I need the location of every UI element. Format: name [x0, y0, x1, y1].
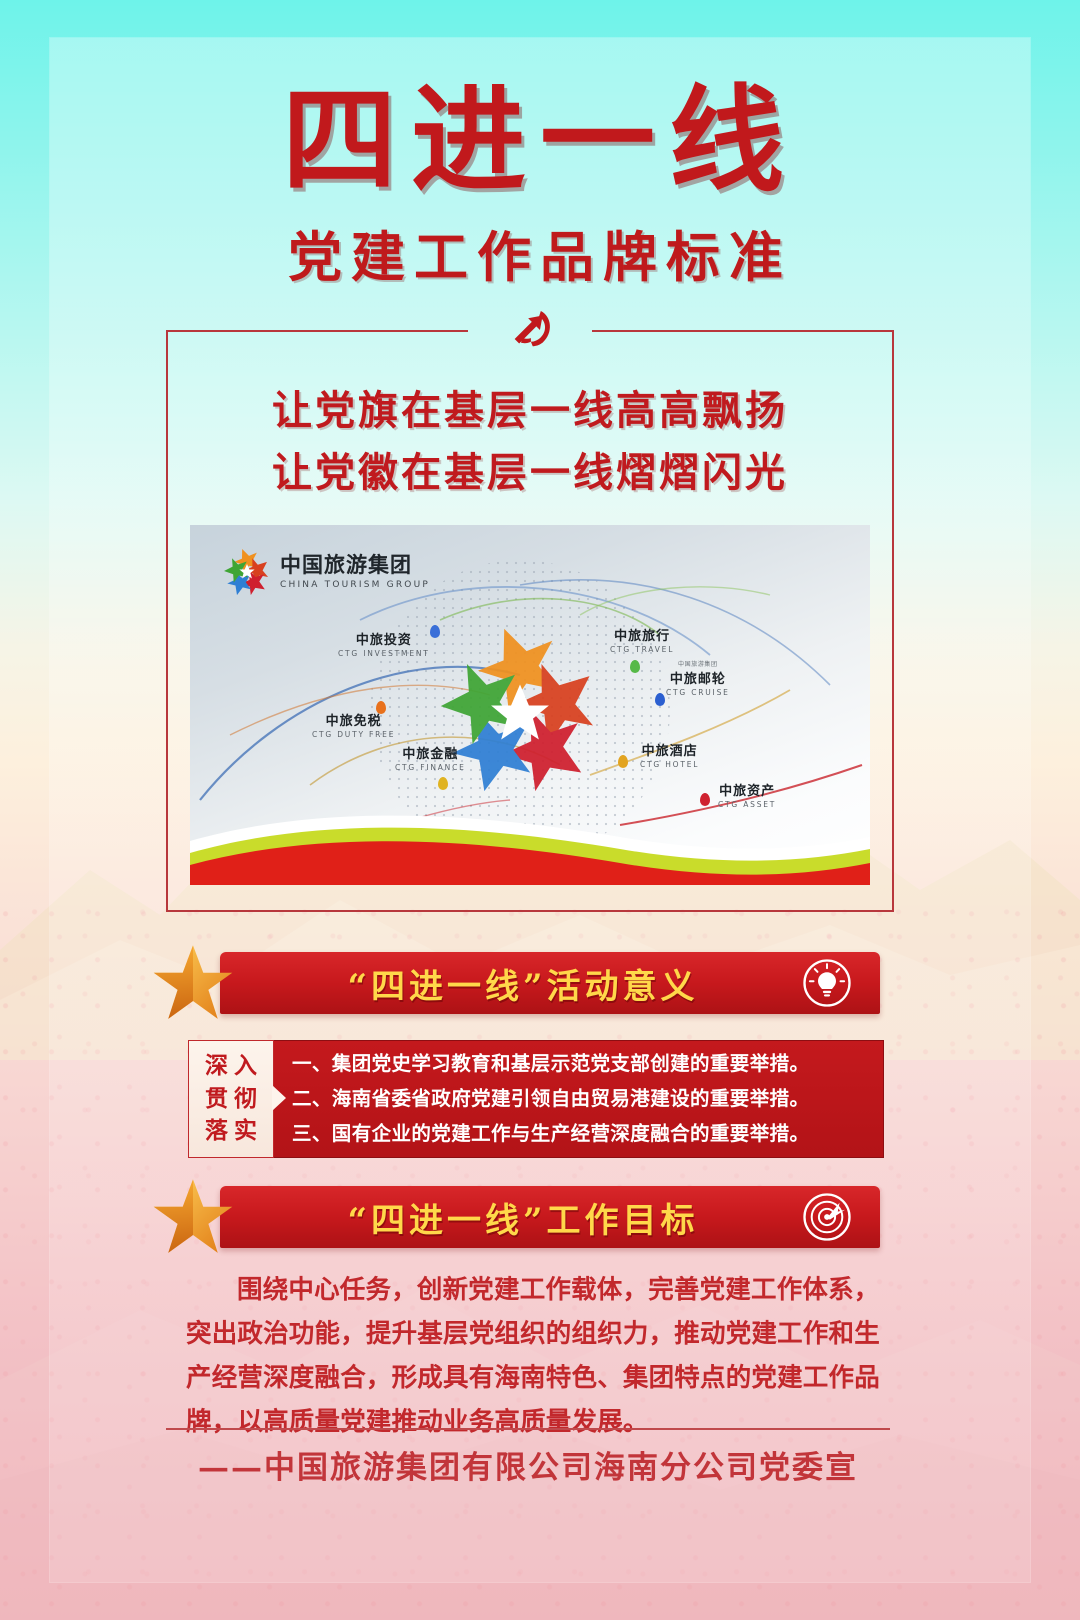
page-title: 四进一线	[0, 0, 1080, 199]
poster-header: 四进一线 党建工作品牌标准	[0, 0, 1080, 292]
pin-ctg-cruise	[655, 693, 665, 706]
section-activity-meaning: “四进一线”活动意义	[0, 952, 1080, 1018]
ctg-ecosystem-graphic: 中国旅游集团 CHINA TOURISM GROUP 中旅投资 CTG INVE…	[190, 525, 870, 885]
tag-line-3: 落实	[199, 1115, 263, 1148]
slogan-block: 让党旗在基层一线高高飘扬 让党徽在基层一线熠熠闪光	[168, 380, 892, 504]
list-item: 二、海南省委省政府党建引领自由贸易港建设的重要举措。	[292, 1081, 876, 1116]
node-ctg-finance: 中旅金融 CTG FINANCE	[395, 743, 466, 772]
pin-ctg-duty-free	[376, 701, 386, 714]
page-subtitle: 党建工作品牌标准	[0, 213, 1080, 292]
ctg-logo: 中国旅游集团 CHINA TOURISM GROUP	[224, 549, 430, 595]
ctg-logo-text-en: CHINA TOURISM GROUP	[280, 580, 430, 590]
pin-ctg-hotel	[618, 755, 628, 768]
section-work-goal: “四进一线”工作目标	[0, 1186, 1080, 1252]
pin-ctg-finance	[438, 777, 448, 790]
goal-paragraph: 围绕中心任务，创新党建工作载体，完善党建工作体系，突出政治功能，提升基层党组织的…	[186, 1268, 896, 1444]
wave-ribbon	[190, 795, 870, 885]
tag-arrow-icon	[272, 1085, 286, 1111]
tag-line-1: 深入	[199, 1050, 263, 1083]
ctg-logo-text-cn: 中国旅游集团	[280, 554, 430, 577]
hammer-sickle-icon	[501, 302, 559, 358]
frame-rule-left	[168, 330, 468, 332]
slogan-line-2: 让党徽在基层一线熠熠闪光	[168, 442, 892, 504]
footer-signature: ——中国旅游集团有限公司海南分公司党委宣	[166, 1442, 890, 1487]
banner-activity-meaning: “四进一线”活动意义	[220, 952, 880, 1014]
node-ctg-hotel: 中旅酒店 CTG HOTEL	[640, 740, 699, 769]
gold-star-icon	[150, 1176, 236, 1258]
frame-rule-right	[592, 330, 892, 332]
slogan-line-1: 让党旗在基层一线高高飘扬	[168, 380, 892, 442]
node-ctg-travel: 中旅旅行 CTG TRAVEL	[610, 625, 674, 654]
meaning-tag: 深入 贯彻 落实	[188, 1040, 274, 1158]
banner-title: “四进一线”工作目标	[220, 1193, 800, 1242]
lightbulb-icon	[800, 956, 854, 1010]
pin-ctg-travel	[630, 660, 640, 673]
ctg-star-flower-icon	[224, 549, 270, 595]
node-ctg-duty-free: 中旅免税 CTG DUTY FREE	[312, 710, 395, 739]
banner-title: “四进一线”活动意义	[220, 959, 800, 1008]
list-item: 三、国有企业的党建工作与生产经营深度融合的重要举措。	[292, 1116, 876, 1151]
ctg-emblem-icon	[422, 613, 618, 809]
node-ctg-investment: 中旅投资 CTG INVESTMENT	[338, 629, 430, 658]
node-ctg-cruise: 中国旅游集团 中旅邮轮 CTG CRUISE	[666, 659, 730, 697]
gold-star-icon	[150, 942, 236, 1024]
meaning-list: 一、集团党史学习教育和基层示范党支部创建的重要举措。 二、海南省委省政府党建引领…	[292, 1046, 876, 1151]
content-frame: 让党旗在基层一线高高飘扬 让党徽在基层一线熠熠闪光	[166, 330, 894, 912]
pin-ctg-investment	[430, 625, 440, 638]
tag-line-2: 贯彻	[199, 1083, 263, 1116]
footer-divider	[166, 1428, 890, 1430]
banner-work-goal: “四进一线”工作目标	[220, 1186, 880, 1248]
list-item: 一、集团党史学习教育和基层示范党支部创建的重要举措。	[292, 1046, 876, 1081]
poster-root: 四进一线 党建工作品牌标准 让党旗在基层一线高高飘扬 让党徽在基层一线熠熠闪光	[0, 0, 1080, 1620]
target-icon	[800, 1190, 854, 1244]
